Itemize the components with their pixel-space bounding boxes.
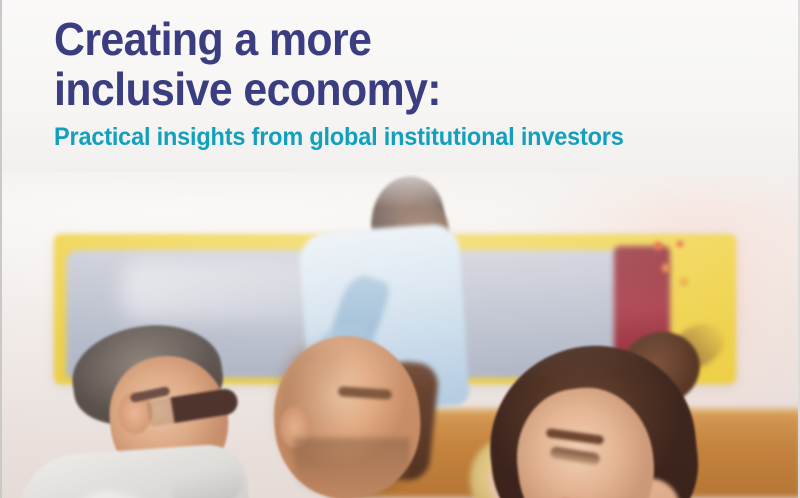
page-subtitle: Practical insights from global instituti… (54, 123, 731, 151)
page-title-line-1: Creating a more (54, 14, 724, 64)
report-cover-page: Creating a more inclusive economy: Pract… (0, 0, 800, 498)
title-block: Creating a more inclusive economy: Pract… (54, 14, 774, 151)
whiteboard-sticky-notes (650, 238, 700, 298)
cover-header: Creating a more inclusive economy: Pract… (2, 0, 800, 172)
page-title-line-2: inclusive economy: (54, 64, 724, 114)
bald-man-beard (294, 438, 410, 498)
cover-photo (2, 150, 800, 498)
